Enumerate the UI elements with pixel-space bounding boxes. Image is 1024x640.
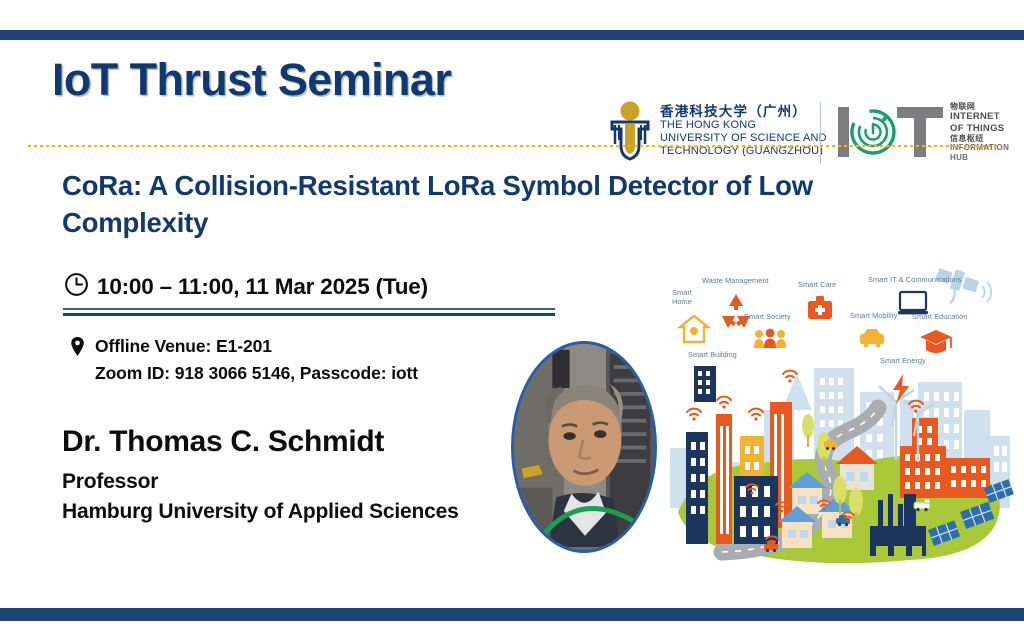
iot-english-line-1: INTERNET bbox=[950, 111, 1024, 122]
illustration-label-smart-education: Smart Education bbox=[912, 312, 967, 321]
illustration-label-smart-mobility: Smart Mobility bbox=[850, 311, 898, 320]
speaker-name: Dr. Thomas C. Schmidt bbox=[62, 425, 492, 459]
illustration-label-smart-society: Smart Society bbox=[744, 312, 791, 321]
venue-zoom: Zoom ID: 918 3066 5146, Passcode: iott bbox=[95, 363, 418, 384]
smart-city-illustration: Smart Home Waste Management Smart Care S… bbox=[664, 250, 1016, 590]
iot-hub-logo: 物联网 INTERNET OF THINGS 信息枢纽 INFORMATION … bbox=[838, 102, 1024, 162]
satellite-icon bbox=[930, 264, 980, 309]
hkust-chinese-name: 香港科技大学（广州） bbox=[660, 104, 827, 120]
illustration-label-smart-building: Smart Building bbox=[688, 350, 737, 359]
seminar-poster: IoT Thrust Seminar 香港科技大学（广州） THE HONG K… bbox=[0, 0, 1024, 640]
illustration-label-smart-home: Smart Home bbox=[672, 288, 692, 307]
hkust-english-line-1: THE HONG KONG bbox=[660, 119, 827, 132]
iot-chinese-name: 物联网 bbox=[950, 102, 1024, 111]
talk-title: CoRa: A Collision-Resistant LoRa Symbol … bbox=[62, 168, 922, 241]
recycle-icon bbox=[722, 294, 750, 328]
iot-english-line-2: OF THINGS bbox=[950, 123, 1024, 134]
gold-dotted-divider bbox=[28, 145, 1000, 147]
poster-header: IoT Thrust Seminar 香港科技大学（广州） THE HONG K… bbox=[0, 40, 1024, 146]
car-icon bbox=[860, 329, 884, 347]
page-title: IoT Thrust Seminar bbox=[52, 54, 451, 106]
hkust-emblem-icon bbox=[608, 100, 652, 162]
illustration-label-smart-care: Smart Care bbox=[798, 280, 836, 289]
speaker-affiliation: Hamburg University of Applied Sciences bbox=[62, 497, 492, 527]
hkust-logo: 香港科技大学（广州） THE HONG KONG UNIVERSITY OF S… bbox=[608, 100, 827, 162]
illustration-label-waste: Waste Management bbox=[702, 276, 769, 285]
hkust-logo-text: 香港科技大学（广州） THE HONG KONG UNIVERSITY OF S… bbox=[660, 104, 827, 158]
speaker-block: Dr. Thomas C. Schmidt Professor Hamburg … bbox=[62, 425, 492, 527]
iot-letter-i-icon bbox=[838, 107, 849, 157]
talk-time-row: 10:00 – 11:00, 11 Mar 2025 (Tue) bbox=[64, 272, 428, 302]
talk-time: 10:00 – 11:00, 11 Mar 2025 (Tue) bbox=[97, 274, 428, 300]
iot-wordmark-icon bbox=[838, 107, 943, 157]
iot-chinese-sub: 信息枢纽 bbox=[950, 134, 1024, 143]
speaker-role: Professor bbox=[62, 467, 492, 497]
bottom-navy-bar bbox=[0, 608, 1024, 621]
people-icon bbox=[754, 329, 786, 348]
venue-offline: Offline Venue: E1-201 bbox=[95, 336, 418, 357]
clock-icon bbox=[64, 272, 89, 302]
speaker-portrait bbox=[511, 341, 657, 553]
iot-letter-o-ring-icon bbox=[850, 109, 896, 155]
graduation-cap-icon bbox=[920, 330, 952, 353]
section-divider-double bbox=[63, 308, 555, 316]
venue-block: Offline Venue: E1-201 Zoom ID: 918 3066 … bbox=[70, 336, 418, 384]
illustration-label-smart-energy: Smart Energy bbox=[880, 356, 926, 365]
medical-bag-icon bbox=[808, 296, 832, 319]
top-navy-bar bbox=[0, 30, 1024, 40]
hkust-english-line-3: TECHNOLOGY (GUANGZHOU) bbox=[660, 145, 827, 158]
office-building-icon bbox=[694, 366, 716, 402]
location-pin-icon bbox=[70, 336, 85, 384]
portrait-image bbox=[514, 344, 654, 547]
hkust-english-line-2: UNIVERSITY OF SCIENCE AND bbox=[660, 132, 827, 145]
logo-divider bbox=[820, 102, 821, 164]
smart-home-icon bbox=[680, 316, 708, 342]
smart-city-graphic bbox=[664, 250, 1016, 590]
iot-letter-t-icon bbox=[897, 107, 943, 157]
illustration-label-smart-it: Smart IT & Communications bbox=[868, 275, 962, 284]
iot-logo-text: 物联网 INTERNET OF THINGS 信息枢纽 INFORMATION … bbox=[950, 102, 1024, 162]
